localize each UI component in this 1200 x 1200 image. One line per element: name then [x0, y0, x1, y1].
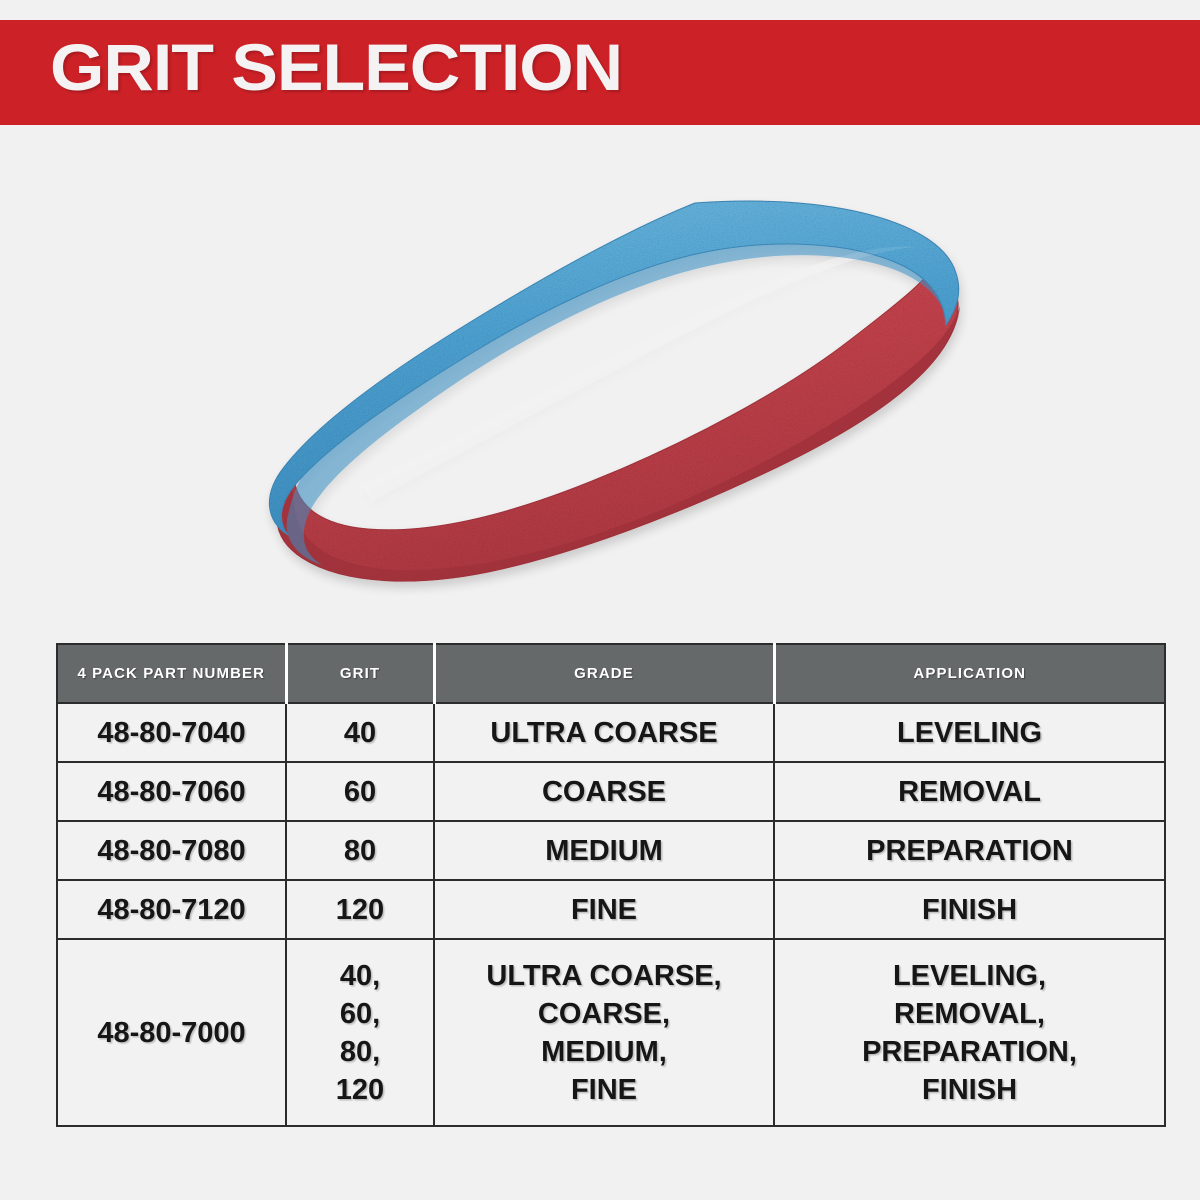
belt-body [269, 201, 960, 581]
cell-application: FINISH [774, 880, 1165, 939]
cell-grit: 60 [286, 762, 434, 821]
column-header-grade: GRADE [434, 644, 774, 703]
cell-part-number: 48-80-7040 [57, 703, 286, 762]
cell-grit-multiline: 40, 60, 80, 120 [286, 939, 434, 1126]
column-header-grit: GRIT [286, 644, 434, 703]
grit-line: 80, [287, 1033, 433, 1071]
cell-grade: FINE [434, 880, 774, 939]
table-header: 4 PACK PART NUMBER GRIT GRADE APPLICATIO… [57, 644, 1165, 703]
table-body: 48-80-7040 40 ULTRA COARSE LEVELING 48-8… [57, 703, 1165, 1126]
cell-part-number: 48-80-7120 [57, 880, 286, 939]
cell-grit: 40 [286, 703, 434, 762]
table-row: 48-80-7120 120 FINE FINISH [57, 880, 1165, 939]
cell-grade: COARSE [434, 762, 774, 821]
sanding-belt-image [240, 185, 1000, 595]
header-banner: GRIT SELECTION [0, 20, 1200, 125]
grit-line: 60, [287, 995, 433, 1033]
cell-application-multiline: LEVELING, REMOVAL, PREPARATION, FINISH [774, 939, 1165, 1126]
table-row: 48-80-7080 80 MEDIUM PREPARATION [57, 821, 1165, 880]
cell-part-number: 48-80-7080 [57, 821, 286, 880]
page-root: GRIT SELECTION [0, 0, 1200, 1200]
cell-grade: ULTRA COARSE [434, 703, 774, 762]
application-line: LEVELING, [775, 957, 1164, 995]
cell-application: REMOVAL [774, 762, 1165, 821]
table-row: 48-80-7060 60 COARSE REMOVAL [57, 762, 1165, 821]
grade-line: ULTRA COARSE, [435, 957, 773, 995]
grade-line: FINE [435, 1071, 773, 1109]
grade-line: MEDIUM, [435, 1033, 773, 1071]
application-line: FINISH [775, 1071, 1164, 1109]
sanding-belt-illustration [240, 185, 1000, 595]
table-row-combo: 48-80-7000 40, 60, 80, 120 ULTRA COARSE,… [57, 939, 1165, 1126]
column-header-part-number: 4 PACK PART NUMBER [57, 644, 286, 703]
application-line: REMOVAL, [775, 995, 1164, 1033]
cell-grade: MEDIUM [434, 821, 774, 880]
cell-part-number: 48-80-7000 [57, 939, 286, 1126]
page-title: GRIT SELECTION [50, 34, 622, 100]
grit-selection-table: 4 PACK PART NUMBER GRIT GRADE APPLICATIO… [56, 643, 1166, 1127]
cell-grade-multiline: ULTRA COARSE, COARSE, MEDIUM, FINE [434, 939, 774, 1126]
cell-part-number: 48-80-7060 [57, 762, 286, 821]
grit-line: 120 [287, 1071, 433, 1109]
table-header-row: 4 PACK PART NUMBER GRIT GRADE APPLICATIO… [57, 644, 1165, 703]
column-header-application: APPLICATION [774, 644, 1165, 703]
cell-application: LEVELING [774, 703, 1165, 762]
cell-grit: 120 [286, 880, 434, 939]
table-row: 48-80-7040 40 ULTRA COARSE LEVELING [57, 703, 1165, 762]
cell-application: PREPARATION [774, 821, 1165, 880]
grade-line: COARSE, [435, 995, 773, 1033]
grit-line: 40, [287, 957, 433, 995]
cell-grit: 80 [286, 821, 434, 880]
application-line: PREPARATION, [775, 1033, 1164, 1071]
